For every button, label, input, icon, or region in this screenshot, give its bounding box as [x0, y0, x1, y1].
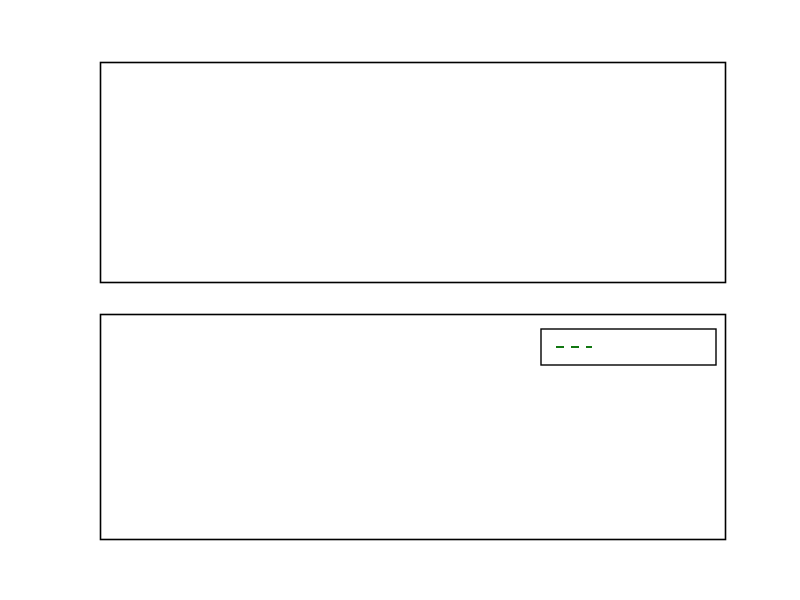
bottom-panel — [0, 0, 726, 540]
legend[interactable] — [541, 329, 716, 365]
legend-box — [541, 329, 716, 365]
top-panel — [101, 63, 726, 283]
figure-canvas — [0, 0, 800, 600]
chart-svg — [0, 0, 800, 600]
top-axes-frame — [101, 63, 726, 283]
